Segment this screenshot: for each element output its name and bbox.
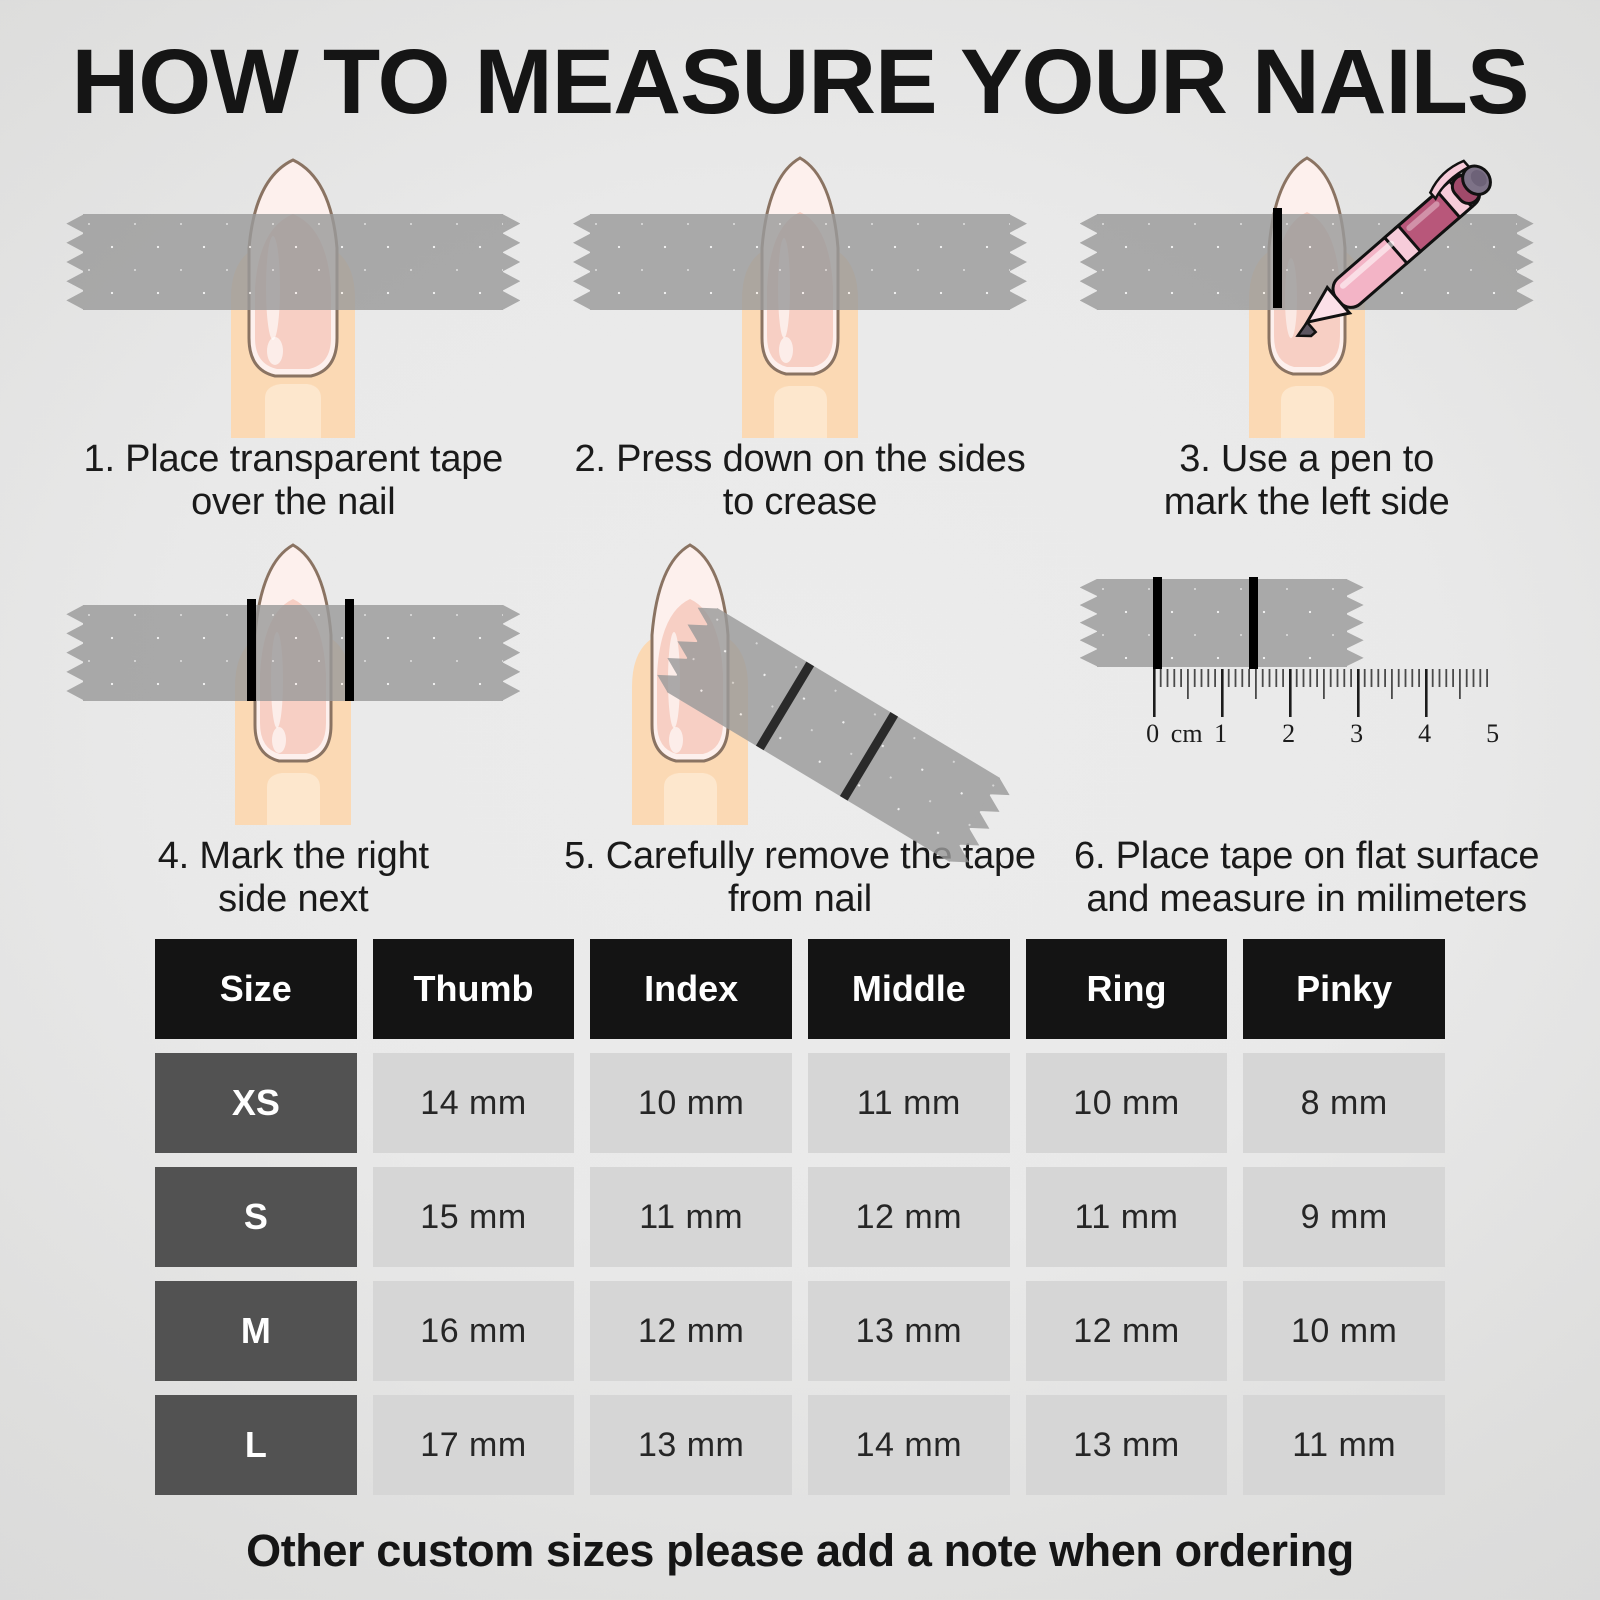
left-mark <box>247 599 256 701</box>
table-cell: 11 mm <box>1243 1395 1445 1495</box>
step-3-illustration <box>1077 142 1537 432</box>
tape-zigzag-left <box>66 214 84 310</box>
step-5-illustration <box>570 529 1030 829</box>
ruler-ticks <box>1153 669 1493 719</box>
ruler-label-5: 5 <box>1486 719 1499 749</box>
table-cell: 10 mm <box>1026 1053 1228 1153</box>
table-cell: 16 mm <box>373 1281 575 1381</box>
ruler-labels: 0 cm 1 2 3 4 5 <box>1153 719 1493 759</box>
tape-strip-flat <box>1097 579 1347 667</box>
table-cell: 12 mm <box>808 1167 1010 1267</box>
ruler-label-3: 3 <box>1350 719 1363 749</box>
tape-texture <box>590 214 1010 310</box>
table-cell: 8 mm <box>1243 1053 1445 1153</box>
ruler-label-2: 2 <box>1282 719 1295 749</box>
tape-strip <box>83 214 503 310</box>
tape-zigzag-left <box>573 214 591 310</box>
ruler-label-1: 1 <box>1214 719 1227 749</box>
table-cell: 11 mm <box>1026 1167 1228 1267</box>
tape-texture <box>83 605 503 701</box>
tape-zigzag-left <box>66 605 84 701</box>
step-1-caption: 1. Place transparent tape over the nail <box>84 438 504 525</box>
tape-zigzag-right <box>1346 579 1364 667</box>
tape-zigzag-left <box>1080 214 1098 310</box>
tape-zigzag-right <box>502 605 520 701</box>
table-header-pinky: Pinky <box>1243 939 1445 1039</box>
table-row-size-l: L <box>155 1395 357 1495</box>
table-cell: 14 mm <box>808 1395 1010 1495</box>
table-cell: 14 mm <box>373 1053 575 1153</box>
ruler-label-4: 4 <box>1418 719 1431 749</box>
table-cell: 10 mm <box>590 1053 792 1153</box>
step-1: 1. Place transparent tape over the nail <box>40 142 547 525</box>
table-row-size-xs: XS <box>155 1053 357 1153</box>
size-chart-table: SizeThumbIndexMiddleRingPinkyXS14 mm10 m… <box>155 939 1445 1495</box>
right-mark <box>1249 577 1258 669</box>
page-title: HOW TO MEASURE YOUR NAILS <box>0 0 1600 128</box>
tape-texture <box>1097 579 1347 667</box>
step-4: 4. Mark the right side next <box>40 529 547 922</box>
table-cell: 13 mm <box>590 1395 792 1495</box>
left-mark <box>1153 577 1162 669</box>
footnote: Other custom sizes please add a note whe… <box>0 1525 1600 1577</box>
ruler-label-cm: cm <box>1171 719 1203 749</box>
table-cell: 11 mm <box>590 1167 792 1267</box>
step-2-illustration <box>570 142 1030 432</box>
step-6-illustration: 0 cm 1 2 3 4 5 <box>1077 529 1537 829</box>
tape-zigzag-left <box>1080 579 1098 667</box>
tape-zigzag-right <box>502 214 520 310</box>
table-header-thumb: Thumb <box>373 939 575 1039</box>
pen-icon <box>1257 132 1547 352</box>
step-4-illustration <box>63 529 523 829</box>
step-6-caption: 6. Place tape on flat surface and measur… <box>1074 835 1539 922</box>
table-cell: 13 mm <box>808 1281 1010 1381</box>
step-2-caption: 2. Press down on the sides to crease <box>574 438 1025 525</box>
tape-strip <box>83 605 503 701</box>
right-mark <box>345 599 354 701</box>
ruler <box>1153 669 1493 719</box>
table-row-size-s: S <box>155 1167 357 1267</box>
step-5-caption: 5. Carefully remove the tape from nail <box>564 835 1036 922</box>
table-cell: 11 mm <box>808 1053 1010 1153</box>
step-6: 0 cm 1 2 3 4 5 6. Place tape on flat sur… <box>1053 529 1560 922</box>
tape-zigzag-right <box>1009 214 1027 310</box>
table-cell: 9 mm <box>1243 1167 1445 1267</box>
table-header-ring: Ring <box>1026 939 1228 1039</box>
step-4-caption: 4. Mark the right side next <box>158 835 429 922</box>
tape-strip <box>590 214 1010 310</box>
table-header-size: Size <box>155 939 357 1039</box>
step-5: 5. Carefully remove the tape from nail <box>547 529 1054 922</box>
step-2: 2. Press down on the sides to crease <box>547 142 1054 525</box>
step-3: 3. Use a pen to mark the left side <box>1053 142 1560 525</box>
tape-texture <box>83 214 503 310</box>
table-header-index: Index <box>590 939 792 1039</box>
step-3-caption: 3. Use a pen to mark the left side <box>1164 438 1450 525</box>
steps-row-2: 4. Mark the right side next <box>40 529 1560 922</box>
steps-row-1: 1. Place transparent tape over the nail … <box>40 142 1560 525</box>
table-cell: 12 mm <box>1026 1281 1228 1381</box>
ruler-label-0: 0 <box>1146 719 1159 749</box>
table-row-size-m: M <box>155 1281 357 1381</box>
table-cell: 17 mm <box>373 1395 575 1495</box>
table-header-middle: Middle <box>808 939 1010 1039</box>
table-cell: 12 mm <box>590 1281 792 1381</box>
table-cell: 15 mm <box>373 1167 575 1267</box>
step-1-illustration <box>63 142 523 432</box>
table-cell: 10 mm <box>1243 1281 1445 1381</box>
table-cell: 13 mm <box>1026 1395 1228 1495</box>
